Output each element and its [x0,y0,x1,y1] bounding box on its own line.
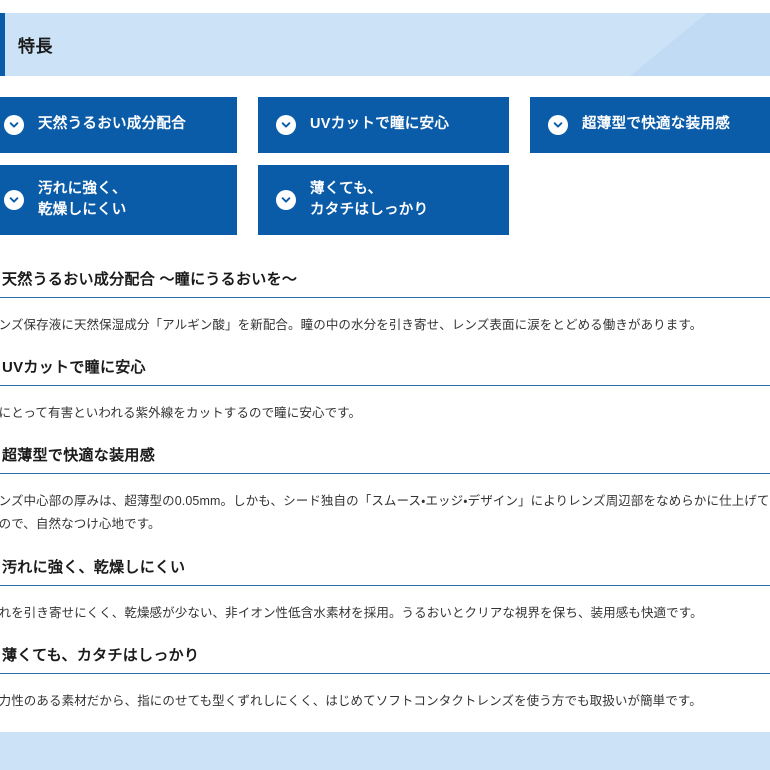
section-heading-text: 薄くても、カタチはしっかり [2,644,199,665]
feature-detail-sections: 天然うるおい成分配合 ～瞳にうるおいを～ レンズ保存液に天然保湿成分「アルギン酸… [0,266,770,730]
section-body-text: レンズ中心部の厚みは、超薄型の0.05mm。しかも、シード独自の「スムース・エッ… [0,474,770,553]
detail-section-ultra-thin: 超薄型で快適な装用感 レンズ中心部の厚みは、超薄型の0.05mm。しかも、シード… [0,442,770,553]
section-body-text: 汚れを引き寄せにくく、乾燥感が少ない、非イオン性低含水素材を採用。うるおいとクリ… [0,586,770,642]
feature-button-uv-cut[interactable]: UVカットで瞳に安心 [258,97,509,153]
feature-button-label: 超薄型で快適な装用感 [582,114,730,135]
chevron-down-circle-icon [548,115,568,135]
feature-button-row-2: 汚れに強く、 乾燥しにくい 薄くても、 カタチはしっかり [0,165,770,235]
page-title: 特長 [18,13,53,76]
detail-section-stain-resistant: 汚れに強く、乾燥しにくい 汚れを引き寄せにくく、乾燥感が少ない、非イオン性低含水… [0,554,770,642]
banner-left-accent-bar [0,13,5,76]
feature-button-label: 汚れに強く、 乾燥しにくい [38,179,127,221]
chevron-down-circle-icon [276,190,296,210]
detail-section-uv-cut: UVカットで瞳に安心 瞳にとって有害といわれる紫外線をカットするので瞳に安心です… [0,354,770,442]
section-body-text: レンズ保存液に天然保湿成分「アルギン酸」を新配合。瞳の中の水分を引き寄せ、レンズ… [0,298,770,354]
detail-section-natural-moisture: 天然うるおい成分配合 ～瞳にうるおいを～ レンズ保存液に天然保湿成分「アルギン酸… [0,266,770,354]
section-body-text: 弾力性のある素材だから、指にのせても型くずれしにくく、はじめてソフトコンタクトレ… [0,674,770,730]
feature-button-label: 天然うるおい成分配合 [38,114,186,135]
feature-button-label: UVカットで瞳に安心 [310,114,449,135]
section-body-text: 瞳にとって有害といわれる紫外線をカットするので瞳に安心です。 [0,386,770,442]
feature-button-ultra-thin[interactable]: 超薄型で快適な装用感 [530,97,770,153]
banner-diagonal-accent [630,13,770,76]
feature-page: 特長 天然うるおい成分配合 UVカットで瞳に安心 [0,0,770,770]
feature-button-shape-retention[interactable]: 薄くても、 カタチはしっかり [258,165,509,235]
section-heading-text: 天然うるおい成分配合 ～瞳にうるおいを～ [2,268,297,289]
section-heading: 薄くても、カタチはしっかり [0,642,770,673]
feature-button-stain-resistant[interactable]: 汚れに強く、 乾燥しにくい [0,165,237,235]
section-heading-text: 超薄型で快適な装用感 [2,444,155,465]
section-heading-text: 汚れに強く、乾燥しにくい [2,556,185,577]
section-heading-text: UVカットで瞳に安心 [2,356,146,377]
feature-button-label: 薄くても、 カタチはしっかり [310,179,428,221]
feature-button-row-1: 天然うるおい成分配合 UVカットで瞳に安心 超薄型で快適な装用感 [0,97,770,153]
chevron-down-circle-icon [276,115,296,135]
chevron-down-circle-icon [4,190,24,210]
feature-button-grid: 天然うるおい成分配合 UVカットで瞳に安心 超薄型で快適な装用感 [0,97,770,247]
section-banner: 特長 [0,13,770,76]
chevron-down-circle-icon [4,115,24,135]
feature-button-natural-moisture[interactable]: 天然うるおい成分配合 [0,97,237,153]
section-heading: UVカットで瞳に安心 [0,354,770,385]
next-section-banner [0,732,770,770]
section-heading: 天然うるおい成分配合 ～瞳にうるおいを～ [0,266,770,297]
detail-section-shape-retention: 薄くても、カタチはしっかり 弾力性のある素材だから、指にのせても型くずれしにくく… [0,642,770,730]
section-heading: 超薄型で快適な装用感 [0,442,770,473]
section-heading: 汚れに強く、乾燥しにくい [0,554,770,585]
